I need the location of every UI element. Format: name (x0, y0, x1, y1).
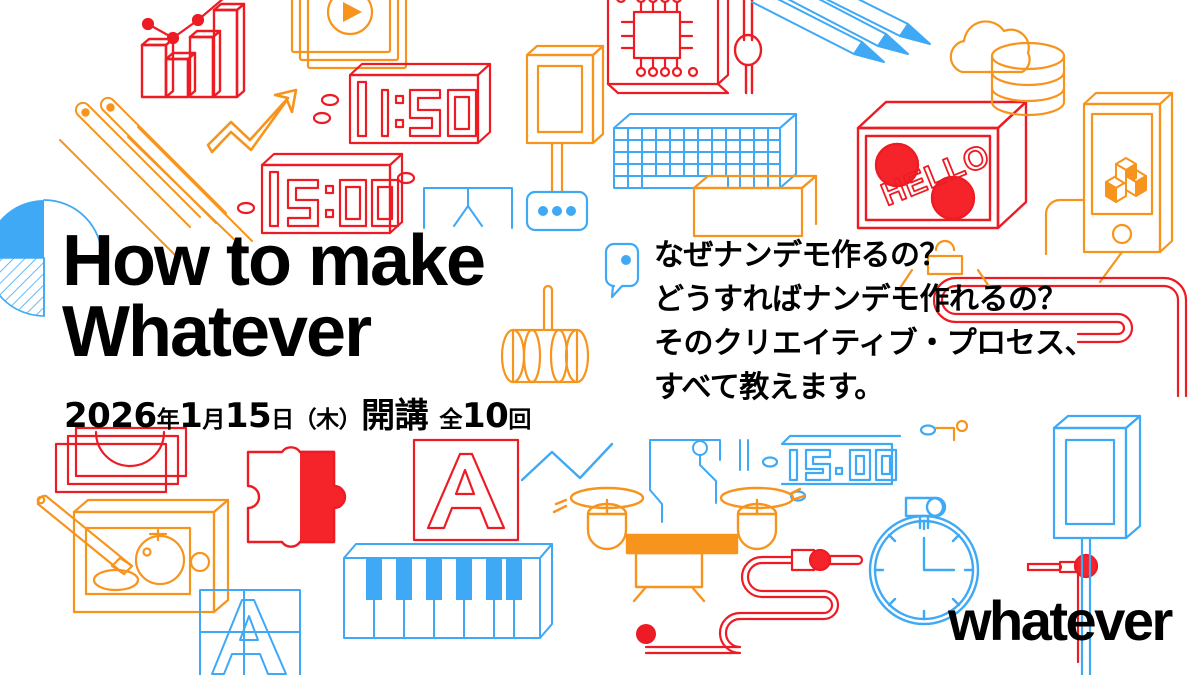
date-day: 15 (225, 396, 271, 436)
course-date-line: 2026年1月15日（木）開講 全10回 (64, 388, 531, 437)
date-day-unit: 日 (271, 407, 294, 433)
date-month-unit: 月 (202, 407, 225, 433)
whatever-logo: whatever (948, 593, 1171, 649)
sessions-unit: 回 (508, 407, 531, 433)
date-weekday: （木） (294, 407, 362, 433)
date-month: 1 (179, 396, 202, 436)
sessions-count: 10 (462, 396, 508, 436)
lede-line-3: そのクリエイティブ・プロセス、 (654, 322, 1094, 366)
date-year: 2026 (64, 396, 157, 436)
lede-line-4: すべて教えます。 (654, 366, 1094, 410)
text-layer: How to make Whatever 2026年1月15日（木）開講 全10… (0, 0, 1200, 675)
lede-copy: なぜナンデモ作るの？ どうすればナンデモ作れるの？ そのクリエイティブ・プロセス… (654, 234, 1094, 410)
sessions-prefix: 全 (439, 407, 462, 433)
lede-line-2: どうすればナンデモ作れるの？ (654, 278, 1094, 322)
page-title: How to make Whatever (62, 226, 484, 367)
date-year-unit: 年 (157, 407, 180, 433)
lede-line-1: なぜナンデモ作るの？ (654, 234, 1094, 278)
date-start-label: 開講 (361, 396, 428, 436)
promo-banner: HELLO (0, 0, 1200, 675)
